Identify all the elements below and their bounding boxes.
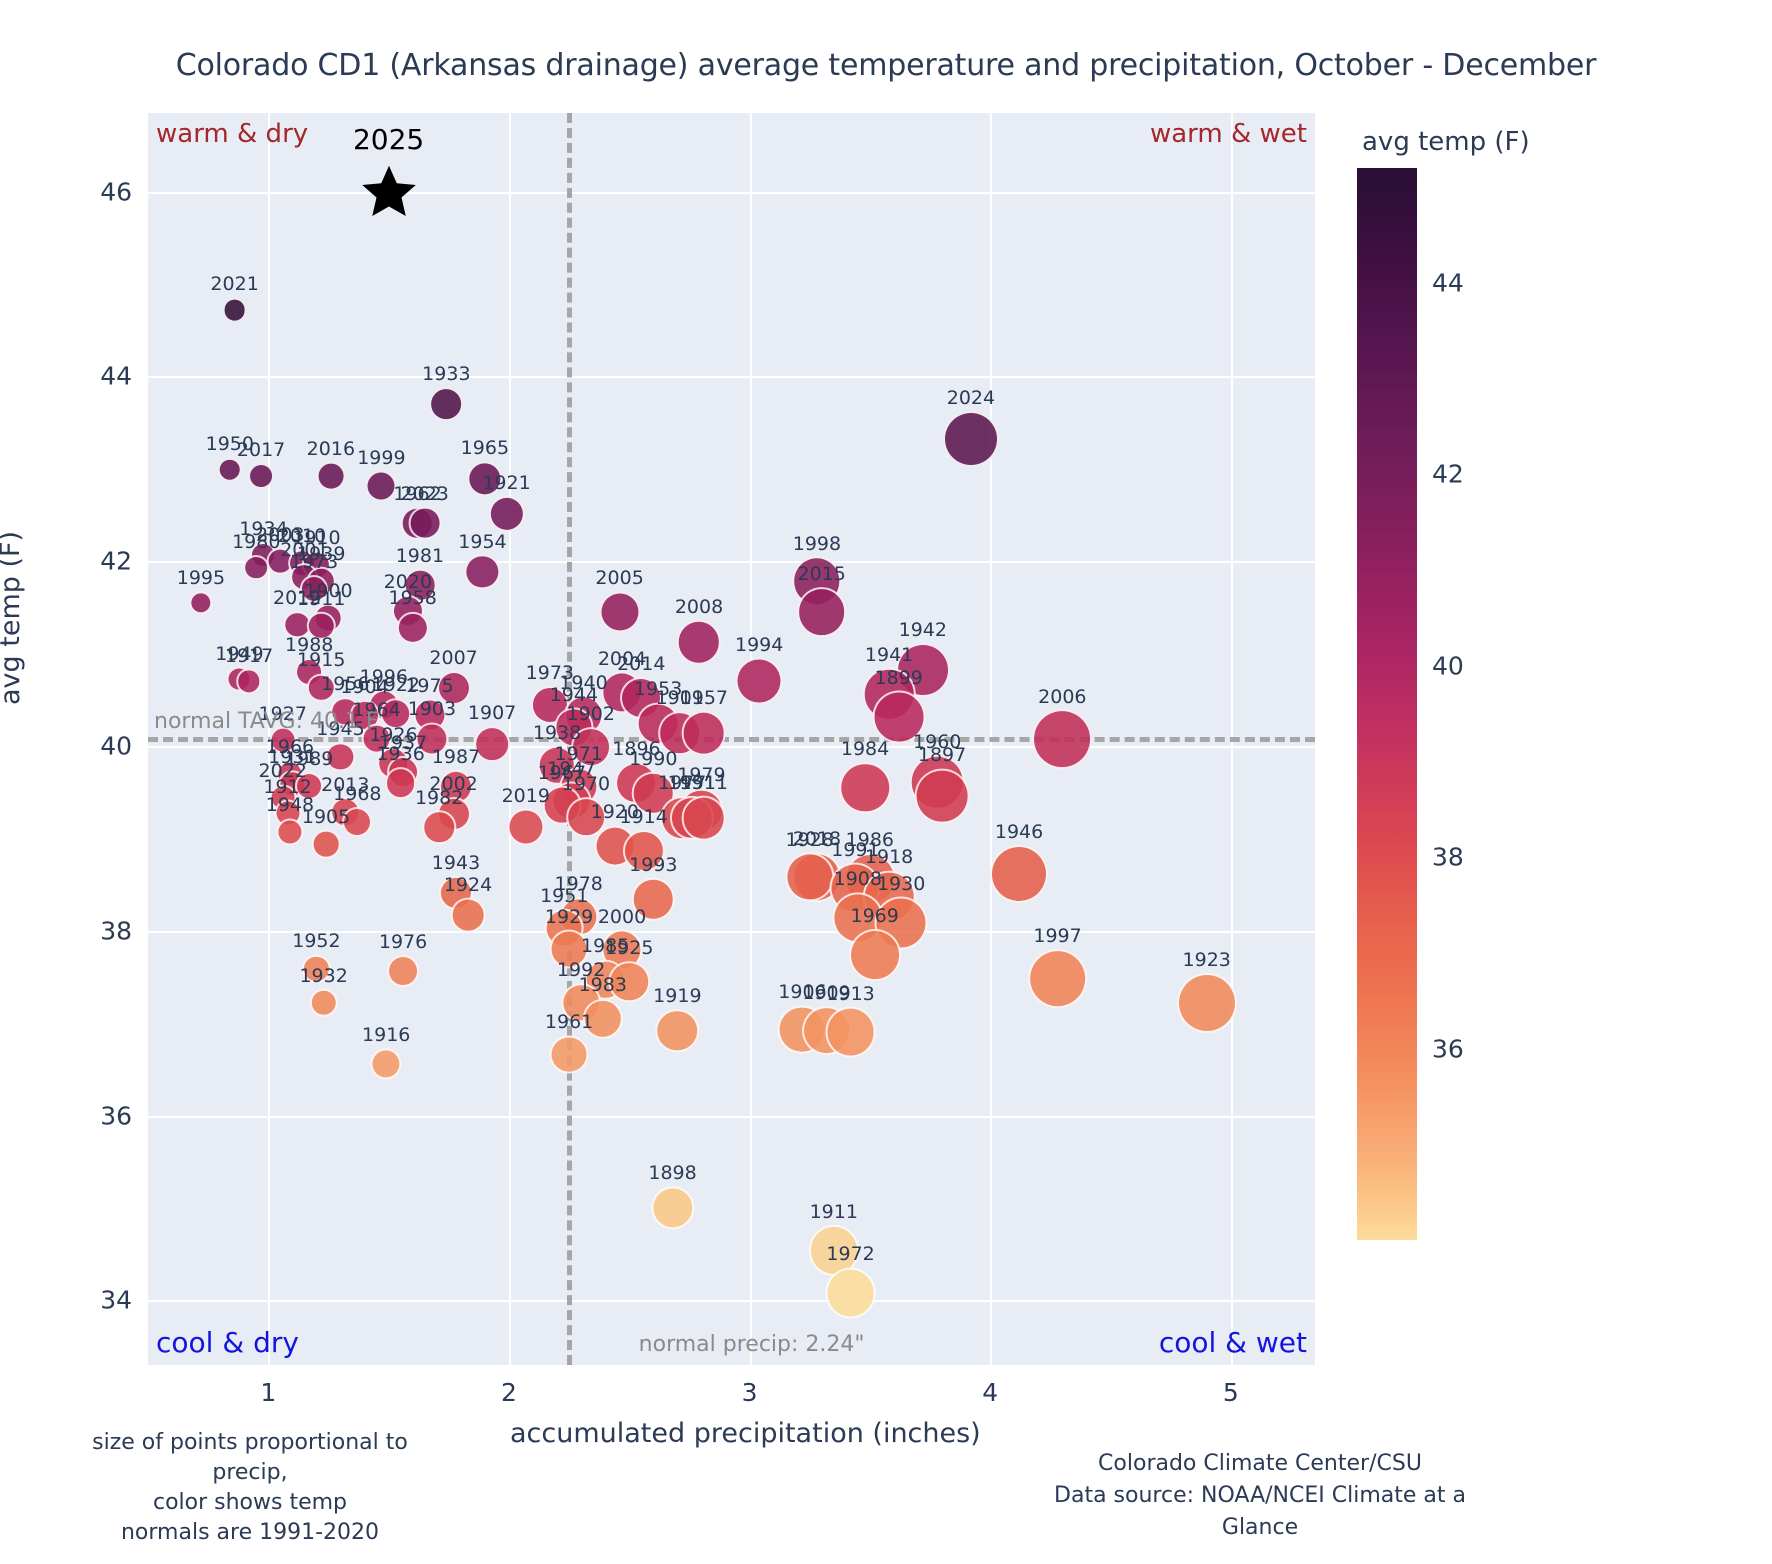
data-point[interactable] xyxy=(465,555,500,590)
data-point[interactable] xyxy=(682,796,727,841)
normal-precip-label: normal precip: 2.24" xyxy=(639,1332,865,1357)
data-point[interactable] xyxy=(632,878,675,921)
data-point[interactable] xyxy=(189,591,212,614)
data-point[interactable] xyxy=(371,1048,402,1079)
data-point-label: 1911 xyxy=(810,1201,858,1223)
data-point-label: 2005 xyxy=(595,567,643,589)
data-point[interactable] xyxy=(583,998,623,1038)
data-point-label: 1952 xyxy=(292,930,340,952)
data-point[interactable] xyxy=(243,555,269,581)
data-point[interactable] xyxy=(825,1007,876,1058)
data-point-label: 1978 xyxy=(555,873,603,895)
y-axis-tick: 34 xyxy=(52,1286,132,1315)
data-point-label: 1916 xyxy=(362,1024,410,1046)
data-point[interactable] xyxy=(415,722,448,755)
data-point[interactable] xyxy=(571,727,611,767)
footer-left-line-3: normals are 1991-2020 xyxy=(65,1518,435,1548)
data-point-label: 1981 xyxy=(396,545,444,567)
data-point[interactable] xyxy=(309,989,338,1018)
data-point[interactable] xyxy=(608,961,650,1003)
colorbar-tick: 42 xyxy=(1432,460,1464,489)
gridline-horizontal xyxy=(148,192,1315,194)
data-point[interactable] xyxy=(1028,949,1088,1009)
data-point[interactable] xyxy=(437,671,471,705)
data-point[interactable] xyxy=(307,612,335,640)
data-point[interactable] xyxy=(429,387,463,421)
data-point-label: 1997 xyxy=(1033,925,1081,947)
y-axis-tick: 40 xyxy=(52,731,132,760)
page-title: Colorado CD1 (Arkansas drainage) average… xyxy=(0,48,1772,83)
data-point[interactable] xyxy=(943,411,999,467)
normal-tavg-line xyxy=(148,737,1315,742)
data-point[interactable] xyxy=(1032,710,1092,770)
highlight-star-marker xyxy=(358,162,420,222)
data-point[interactable] xyxy=(312,830,341,859)
data-point[interactable] xyxy=(422,811,455,844)
data-point[interactable] xyxy=(599,591,640,632)
data-point-label: 1986 xyxy=(846,829,894,851)
x-axis-tick: 5 xyxy=(1223,1378,1239,1407)
data-point-label: 1962 xyxy=(393,483,441,505)
x-axis-tick: 4 xyxy=(982,1378,998,1407)
scatter-plot-area: 2025202119332024195020172016196519991921… xyxy=(148,113,1315,1365)
highlight-star-label: 2025 xyxy=(353,123,424,156)
data-point[interactable] xyxy=(915,768,970,823)
data-point[interactable] xyxy=(656,1009,700,1053)
data-point-label: 2017 xyxy=(237,439,285,461)
data-point-label: 1917 xyxy=(225,645,273,667)
data-point[interactable] xyxy=(550,930,589,969)
data-point-label: 1994 xyxy=(735,634,783,656)
gridline-horizontal xyxy=(148,1300,1315,1302)
data-point-label: 1919 xyxy=(653,985,701,1007)
y-axis-tick: 46 xyxy=(52,177,132,206)
normal-tavg-label: normal TAVG: 40.1 F xyxy=(154,709,379,734)
y-axis-tick: 38 xyxy=(52,916,132,945)
x-axis-tick: 1 xyxy=(260,1378,276,1407)
data-point-label: 2021 xyxy=(210,273,258,295)
data-point[interactable] xyxy=(682,711,727,756)
data-point-label: 1957 xyxy=(680,687,728,709)
data-point-label: 2004 xyxy=(598,648,646,670)
data-point-label: 1954 xyxy=(458,531,506,553)
data-point[interactable] xyxy=(488,496,524,532)
data-point-label: 1943 xyxy=(432,852,480,874)
data-point[interactable] xyxy=(550,1035,589,1074)
y-axis-tick: 36 xyxy=(52,1101,132,1130)
gridline-horizontal xyxy=(148,376,1315,378)
gridline-horizontal xyxy=(148,1116,1315,1118)
data-point[interactable] xyxy=(797,587,847,637)
colorbar-tick: 44 xyxy=(1432,268,1464,297)
gridline-horizontal xyxy=(148,931,1315,933)
data-point-label: 1950 xyxy=(206,433,254,455)
data-point-label: 2008 xyxy=(675,596,723,618)
data-point-label: 1949 xyxy=(215,643,263,665)
data-point[interactable] xyxy=(849,929,901,981)
data-point-label: 1913 xyxy=(826,983,874,1005)
y-axis-tick: 44 xyxy=(52,362,132,391)
data-point[interactable] xyxy=(677,620,721,664)
data-point[interactable] xyxy=(408,507,441,540)
x-axis-tick: 2 xyxy=(501,1378,517,1407)
data-point[interactable] xyxy=(451,898,486,933)
data-point[interactable] xyxy=(623,830,665,872)
data-point-label: 1910 xyxy=(292,527,340,549)
data-point[interactable] xyxy=(218,457,243,482)
footer-note-right: Colorado Climate Center/CSU Data source:… xyxy=(1020,1448,1500,1544)
data-point-label: 1965 xyxy=(461,437,509,459)
x-axis-label: accumulated precipitation (inches) xyxy=(510,1418,981,1449)
colorbar-tick: 38 xyxy=(1432,843,1464,872)
data-point-label: 1923 xyxy=(1183,949,1231,971)
data-point-label: 1998 xyxy=(793,533,841,555)
data-point[interactable] xyxy=(236,669,261,694)
quadrant-label-warm-wet: warm & wet xyxy=(1150,119,1307,149)
data-point[interactable] xyxy=(385,767,417,799)
data-point-label: 1946 xyxy=(995,821,1043,843)
data-point[interactable] xyxy=(326,742,355,771)
footer-note-left: size of points proportional to precip, c… xyxy=(65,1428,435,1548)
data-point[interactable] xyxy=(300,575,328,603)
data-point[interactable] xyxy=(839,762,890,813)
data-point[interactable] xyxy=(248,463,274,489)
data-point-label: 2010 xyxy=(278,525,326,547)
data-point[interactable] xyxy=(785,853,834,902)
data-point-label: 1995 xyxy=(177,567,225,589)
data-point[interactable] xyxy=(467,461,502,496)
data-point-label: 1928 xyxy=(786,829,834,851)
data-point-label: 1934 xyxy=(239,518,287,540)
chart-root: Colorado CD1 (Arkansas drainage) average… xyxy=(0,0,1772,1564)
footer-right-line-2: Data source: NOAA/NCEI Climate at a Glan… xyxy=(1020,1480,1500,1544)
data-point[interactable] xyxy=(651,1186,694,1229)
data-point[interactable] xyxy=(825,1267,876,1318)
data-point-label: 2024 xyxy=(947,387,995,409)
data-point[interactable] xyxy=(397,612,429,644)
data-point[interactable] xyxy=(222,297,247,322)
data-point[interactable] xyxy=(474,726,510,762)
data-point[interactable] xyxy=(276,818,303,845)
data-point[interactable] xyxy=(1177,973,1237,1033)
colorbar-tick: 40 xyxy=(1432,651,1464,680)
y-axis-label: avg temp (F) xyxy=(0,531,26,705)
footer-right-line-1: Colorado Climate Center/CSU xyxy=(1020,1448,1500,1480)
data-point-label: 2016 xyxy=(307,438,355,460)
data-point-label: 2018 xyxy=(793,828,841,850)
data-point-label: 2007 xyxy=(429,647,477,669)
colorbar-tick: 36 xyxy=(1432,1034,1464,1063)
data-point-label: 1898 xyxy=(648,1162,696,1184)
data-point[interactable] xyxy=(366,471,397,502)
data-point-label: 1906 xyxy=(778,981,826,1003)
data-point-label: 1909 xyxy=(802,982,850,1004)
data-point[interactable] xyxy=(295,772,323,800)
data-point[interactable] xyxy=(736,658,783,705)
data-point-label: 1999 xyxy=(357,447,405,469)
x-axis-tick: 3 xyxy=(742,1378,758,1407)
data-point-label: 2013 xyxy=(321,774,369,796)
data-point-label: 2023 xyxy=(401,483,449,505)
y-axis-tick: 42 xyxy=(52,547,132,576)
quadrant-label-cool-dry: cool & dry xyxy=(156,1326,299,1359)
data-point[interactable] xyxy=(316,462,345,491)
data-point[interactable] xyxy=(872,691,925,744)
data-point-label: 1996 xyxy=(360,666,408,688)
data-point-label: 2006 xyxy=(1038,686,1086,708)
data-point[interactable] xyxy=(387,955,419,987)
data-point[interactable] xyxy=(342,807,372,837)
footer-left-line-1: size of points proportional to precip, xyxy=(65,1428,435,1488)
data-point[interactable] xyxy=(307,674,335,702)
data-point-label: 1942 xyxy=(899,619,947,641)
colorbar-gradient xyxy=(1357,168,1417,1240)
data-point[interactable] xyxy=(507,809,544,846)
data-point[interactable] xyxy=(990,845,1048,903)
data-point[interactable] xyxy=(302,954,330,982)
gridline-horizontal xyxy=(148,746,1315,748)
data-point-label: 1976 xyxy=(379,931,427,953)
data-point-label: 1979 xyxy=(677,764,725,786)
colorbar-title: avg temp (F) xyxy=(1362,127,1530,157)
data-point-label: 1933 xyxy=(422,363,470,385)
footer-left-line-2: color shows temp xyxy=(65,1488,435,1518)
quadrant-label-warm-dry: warm & dry xyxy=(156,119,308,149)
quadrant-label-cool-wet: cool & wet xyxy=(1159,1326,1307,1359)
